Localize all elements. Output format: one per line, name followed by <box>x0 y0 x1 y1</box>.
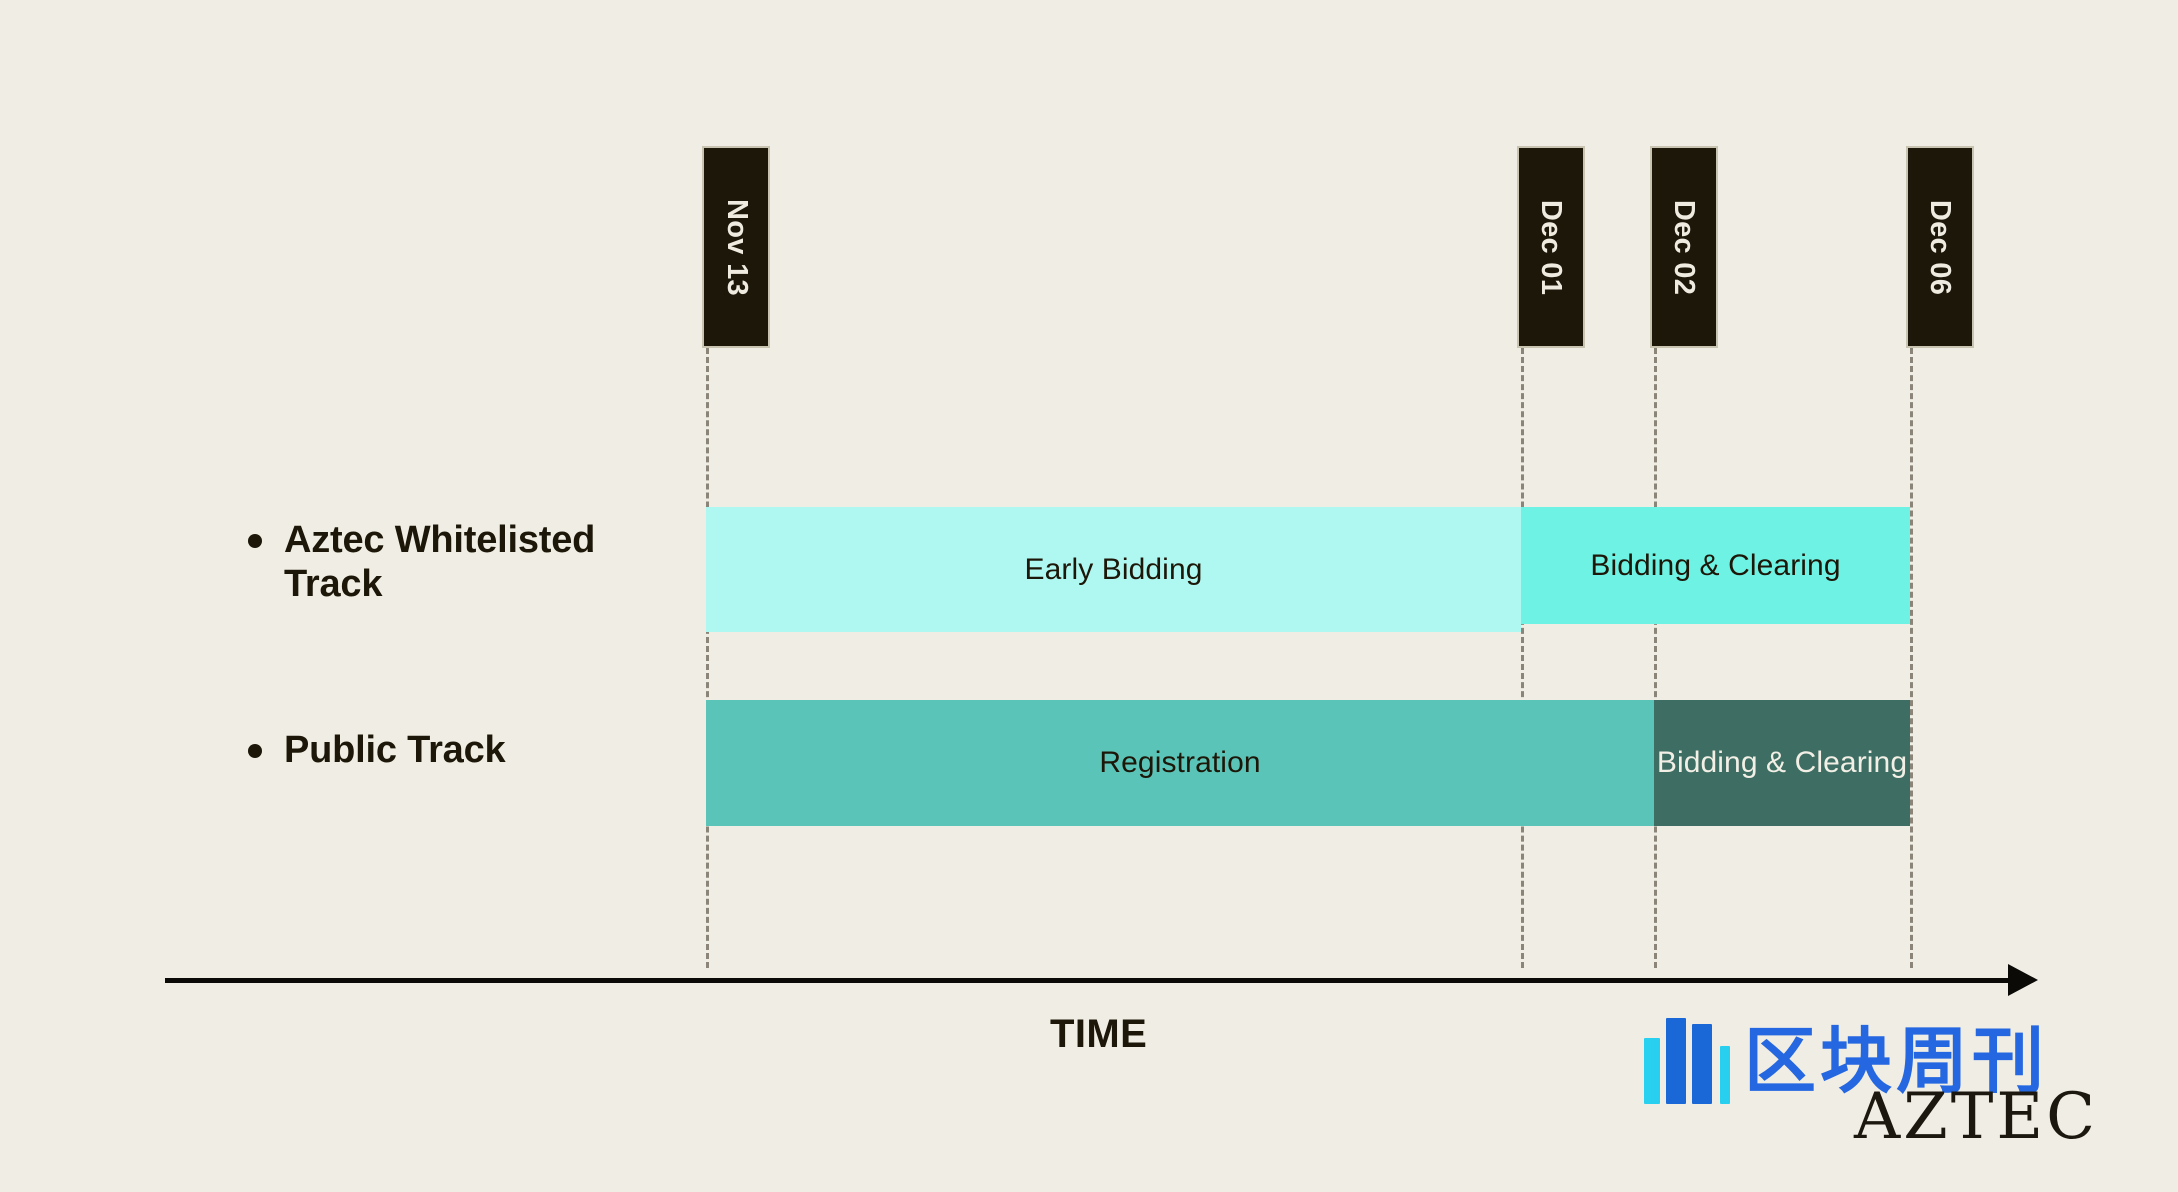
guide-line-nov-13 <box>706 348 709 968</box>
date-marker-dec-01: Dec 01 <box>1517 146 1585 348</box>
date-marker-label: Dec 01 <box>1535 199 1568 294</box>
date-marker-label: Dec 02 <box>1668 199 1701 294</box>
guide-line-dec-06 <box>1910 348 1913 968</box>
time-axis-line <box>165 978 2011 983</box>
track-label-public-track: Public Track <box>248 728 648 772</box>
bar-segment-label: Bidding & Clearing <box>1657 744 1907 782</box>
time-axis-arrow-icon <box>2008 964 2038 996</box>
watermark-logo-icon <box>1644 1018 1730 1104</box>
bar-segment-label: Registration <box>1099 744 1260 782</box>
guide-line-dec-02 <box>1654 348 1657 968</box>
bar-segment-registration: Registration <box>706 700 1654 826</box>
bar-segment-whitelisted-bidding-clearing: Bidding & Clearing <box>1521 507 1910 624</box>
date-marker-label: Dec 06 <box>1924 199 1957 294</box>
date-marker-nov-13: Nov 13 <box>702 146 770 348</box>
guide-line-dec-01 <box>1521 348 1524 968</box>
bar-segment-public-bidding-clearing: Bidding & Clearing <box>1654 700 1910 826</box>
date-marker-dec-02: Dec 02 <box>1650 146 1718 348</box>
watermark-aztec-text: AZTEC <box>1854 1080 2098 1154</box>
time-axis-title: TIME <box>1050 1012 1147 1057</box>
watermark: 区块周刊 AZTEC <box>1644 1018 2048 1104</box>
track-label-text: Aztec Whitelisted Track <box>284 518 648 606</box>
track-label-aztec-whitelisted: Aztec Whitelisted Track <box>248 518 648 606</box>
timeline-diagram: Nov 13 Dec 01 Dec 02 Dec 06 Aztec Whitel… <box>0 0 2178 1192</box>
track-label-text: Public Track <box>284 728 505 772</box>
bar-segment-early-bidding: Early Bidding <box>706 507 1521 632</box>
bar-segment-label: Bidding & Clearing <box>1590 547 1840 585</box>
bullet-icon <box>248 744 262 758</box>
date-marker-label: Nov 13 <box>720 199 753 296</box>
bullet-icon <box>248 534 262 548</box>
date-marker-dec-06: Dec 06 <box>1906 146 1974 348</box>
bar-segment-label: Early Bidding <box>1024 551 1202 589</box>
